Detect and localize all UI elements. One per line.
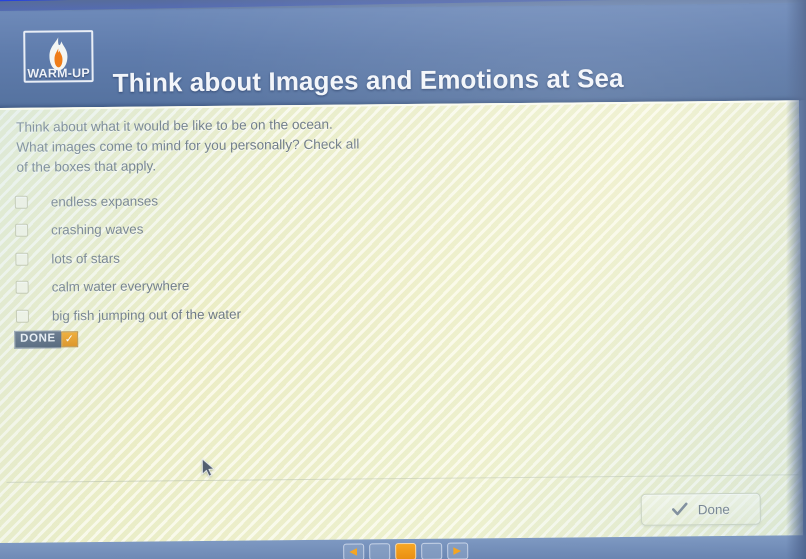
checkbox-lots-of-stars[interactable] xyxy=(15,252,28,265)
choice-label-4: calm water everywhere xyxy=(52,278,190,294)
choice-label-1: endless expanses xyxy=(51,193,158,209)
right-arrow-icon: ▶ xyxy=(453,546,461,556)
inline-done-button[interactable]: DONE ✓ xyxy=(14,331,78,348)
activity-content-sheet: Think about what it would be like to be … xyxy=(0,100,803,545)
check-icon xyxy=(672,502,688,516)
page-indicator-1[interactable] xyxy=(369,543,390,559)
inline-done-label: DONE xyxy=(14,330,61,348)
warmup-badge-label: WARM-UP xyxy=(24,66,94,81)
done-button-label: Done xyxy=(698,501,730,516)
lesson-activity-window: WARM-UP Think about Images and Emotions … xyxy=(0,3,806,559)
mouse-pointer-icon xyxy=(201,458,215,478)
checkbox-endless-expanses[interactable] xyxy=(15,195,28,208)
checkbox-calm-water-everywhere[interactable] xyxy=(16,281,29,294)
page-title: Think about Images and Emotions at Sea xyxy=(113,63,624,99)
choice-label-5: big fish jumping out of the water xyxy=(52,306,241,323)
previous-page-button[interactable]: ◀ xyxy=(343,543,364,559)
page-indicator-2-current[interactable] xyxy=(395,543,416,559)
warmup-badge: WARM-UP xyxy=(23,30,100,89)
content-divider xyxy=(7,474,799,483)
page-indicator-3[interactable] xyxy=(421,543,442,559)
checkbox-choice-list: endless expanses crashing waves lots of … xyxy=(15,184,436,331)
choice-option-3[interactable]: lots of stars xyxy=(15,241,435,274)
choice-label-2: crashing waves xyxy=(51,222,143,238)
checkbox-crashing-waves[interactable] xyxy=(15,224,28,237)
check-icon: ✓ xyxy=(61,331,78,347)
choice-option-2[interactable]: crashing waves xyxy=(15,212,435,245)
next-page-button[interactable]: ▶ xyxy=(447,542,468,559)
choice-label-3: lots of stars xyxy=(51,251,120,267)
choice-option-1[interactable]: endless expanses xyxy=(15,184,435,217)
question-prompt: Think about what it would be like to be … xyxy=(16,114,362,178)
left-arrow-icon: ◀ xyxy=(349,547,357,557)
checkbox-big-fish-jumping[interactable] xyxy=(16,309,29,322)
projected-screen: WARM-UP Think about Images and Emotions … xyxy=(0,0,806,559)
choice-option-5[interactable]: big fish jumping out of the water xyxy=(16,298,436,331)
activity-header: WARM-UP Think about Images and Emotions … xyxy=(0,3,806,108)
choice-option-4[interactable]: calm water everywhere xyxy=(16,269,436,302)
done-button[interactable]: Done xyxy=(641,493,761,526)
